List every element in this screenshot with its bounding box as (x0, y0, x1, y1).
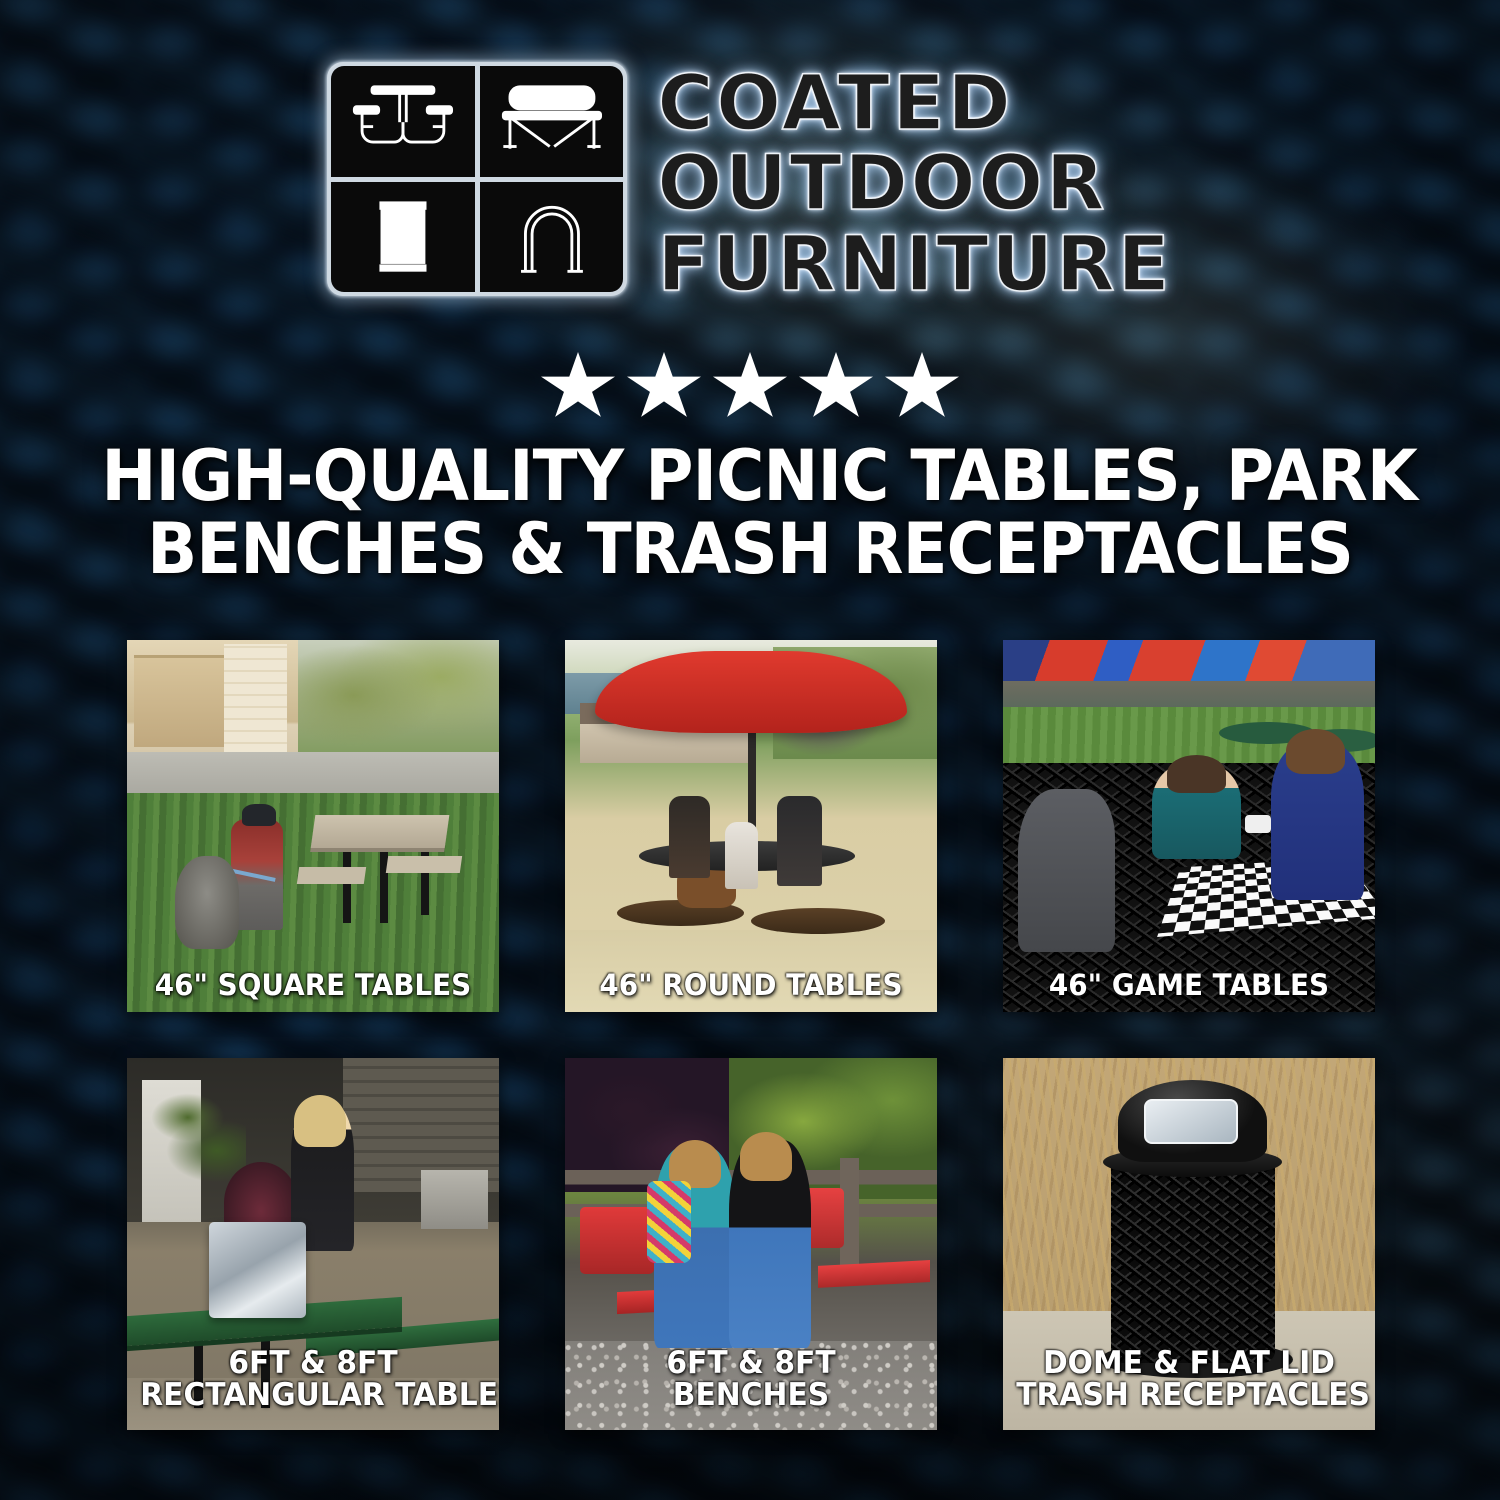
star-rating (0, 352, 1500, 422)
product-caption-round-tables: 46" ROUND TABLES (578, 970, 924, 1000)
caption-line-2: RECTANGULAR TABLES (140, 1379, 486, 1412)
trash-receptacle-icon (347, 194, 459, 280)
brand-word-furniture: FURNITURE (657, 227, 1172, 301)
product-photo-round-tables (565, 640, 937, 1012)
caption-line-1: 46" SQUARE TABLES (140, 970, 486, 1000)
caption-line-1: DOME & FLAT LID (1016, 1347, 1362, 1380)
logo-tile-bike-rack (480, 182, 624, 293)
product-photo-square-tables (127, 640, 499, 1012)
brand-wordmark: COATED OUTDOOR FURNITURE (657, 62, 1172, 301)
caption-line-1: 6FT & 8FT (140, 1347, 486, 1380)
caption-line-2: BENCHES (578, 1379, 924, 1412)
product-caption-rectangular-tables: 6FT & 8FT RECTANGULAR TABLES (140, 1347, 486, 1412)
logo-tile-trash-receptacle (331, 182, 475, 293)
park-bench-icon (496, 78, 608, 164)
product-card-benches[interactable]: 6FT & 8FT BENCHES (565, 1058, 937, 1430)
caption-line-1: 46" GAME TABLES (1016, 970, 1362, 1000)
product-card-game-tables[interactable]: 46" GAME TABLES (1003, 640, 1375, 1012)
headline-line-1: HIGH-QUALITY PICNIC TABLES, PARK (101, 440, 1398, 513)
ad-banner: COATED OUTDOOR FURNITURE HIGH-QUALITY PI… (0, 0, 1500, 1500)
product-caption-trash-receptacles: DOME & FLAT LID TRASH RECEPTACLES (1016, 1347, 1362, 1412)
logo-tile-picnic-table (331, 66, 475, 177)
product-caption-benches: 6FT & 8FT BENCHES (578, 1347, 924, 1412)
brand-word-outdoor: OUTDOOR (657, 146, 1172, 220)
headline: HIGH-QUALITY PICNIC TABLES, PARK BENCHES… (101, 440, 1398, 586)
product-grid: 46" SQUARE TABLES 46" ROUND TABLES (127, 640, 1375, 1430)
caption-line-1: 46" ROUND TABLES (578, 970, 924, 1000)
star-icon (627, 352, 701, 422)
picnic-table-icon (347, 78, 459, 164)
logo-tile-park-bench (480, 66, 624, 177)
star-icon (885, 352, 959, 422)
brand-logo-mark[interactable] (327, 62, 627, 296)
caption-line-2: TRASH RECEPTACLES (1016, 1379, 1362, 1412)
brand-word-coated: COATED (657, 66, 1172, 140)
caption-line-1: 6FT & 8FT (578, 1347, 924, 1380)
product-card-square-tables[interactable]: 46" SQUARE TABLES (127, 640, 499, 1012)
star-icon (713, 352, 787, 422)
product-card-rectangular-tables[interactable]: 6FT & 8FT RECTANGULAR TABLES (127, 1058, 499, 1430)
headline-line-2: BENCHES & TRASH RECEPTACLES (101, 513, 1398, 586)
brand-header: COATED OUTDOOR FURNITURE (0, 62, 1500, 301)
product-photo-game-tables (1003, 640, 1375, 1012)
product-caption-square-tables: 46" SQUARE TABLES (140, 970, 486, 1000)
product-caption-game-tables: 46" GAME TABLES (1016, 970, 1362, 1000)
star-icon (541, 352, 615, 422)
star-icon (799, 352, 873, 422)
product-card-round-tables[interactable]: 46" ROUND TABLES (565, 640, 937, 1012)
bike-rack-icon (496, 194, 608, 280)
product-card-trash-receptacles[interactable]: DOME & FLAT LID TRASH RECEPTACLES (1003, 1058, 1375, 1430)
